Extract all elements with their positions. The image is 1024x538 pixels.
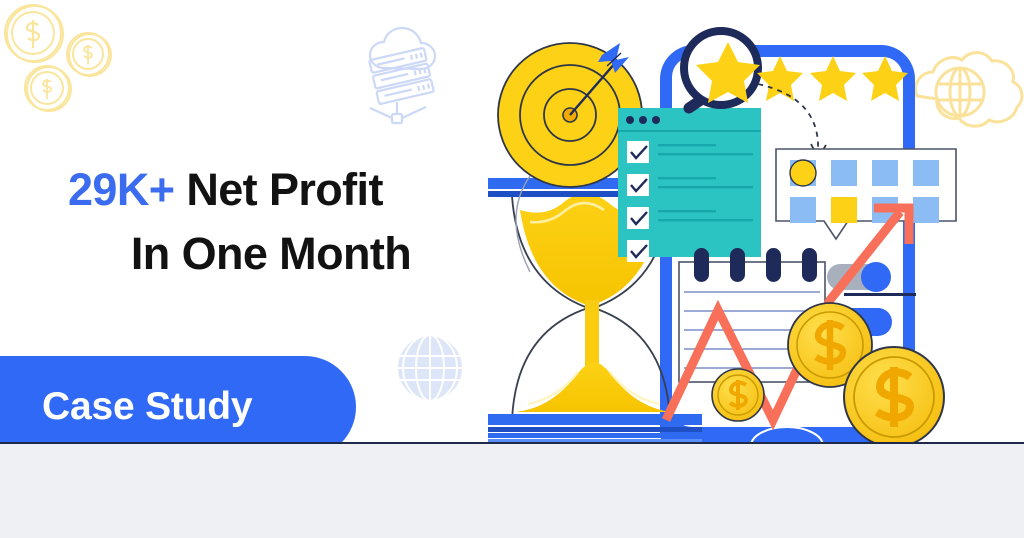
coin-outline-small	[20, 60, 76, 116]
grid-tile	[872, 160, 898, 186]
grid-tile	[831, 197, 857, 223]
case-study-badge-label: Case Study	[0, 385, 252, 429]
globe-icon	[392, 330, 468, 406]
headline-line2: In One Month	[68, 222, 488, 286]
banner-stage: 29K+ Net Profit In One Month Case Study	[0, 0, 1024, 538]
case-study-growth-illustration	[470, 0, 1024, 500]
page-title: 29K+ Net Profit In One Month	[68, 158, 488, 286]
grid-highlight-circle	[790, 160, 816, 186]
headline-rest: Net Profit	[174, 164, 382, 215]
cloud-globe-icon	[916, 53, 1022, 127]
grid-tile	[790, 197, 816, 223]
grid-tile	[831, 160, 857, 186]
checklist-window	[618, 108, 761, 262]
coin-small	[712, 369, 764, 421]
magnifier-star	[684, 31, 760, 108]
cloud-server-icon	[352, 26, 452, 136]
grid-tile	[913, 197, 939, 223]
grid-tile	[913, 160, 939, 186]
floor-band	[0, 444, 1024, 538]
headline-accent: 29K+	[68, 164, 174, 215]
